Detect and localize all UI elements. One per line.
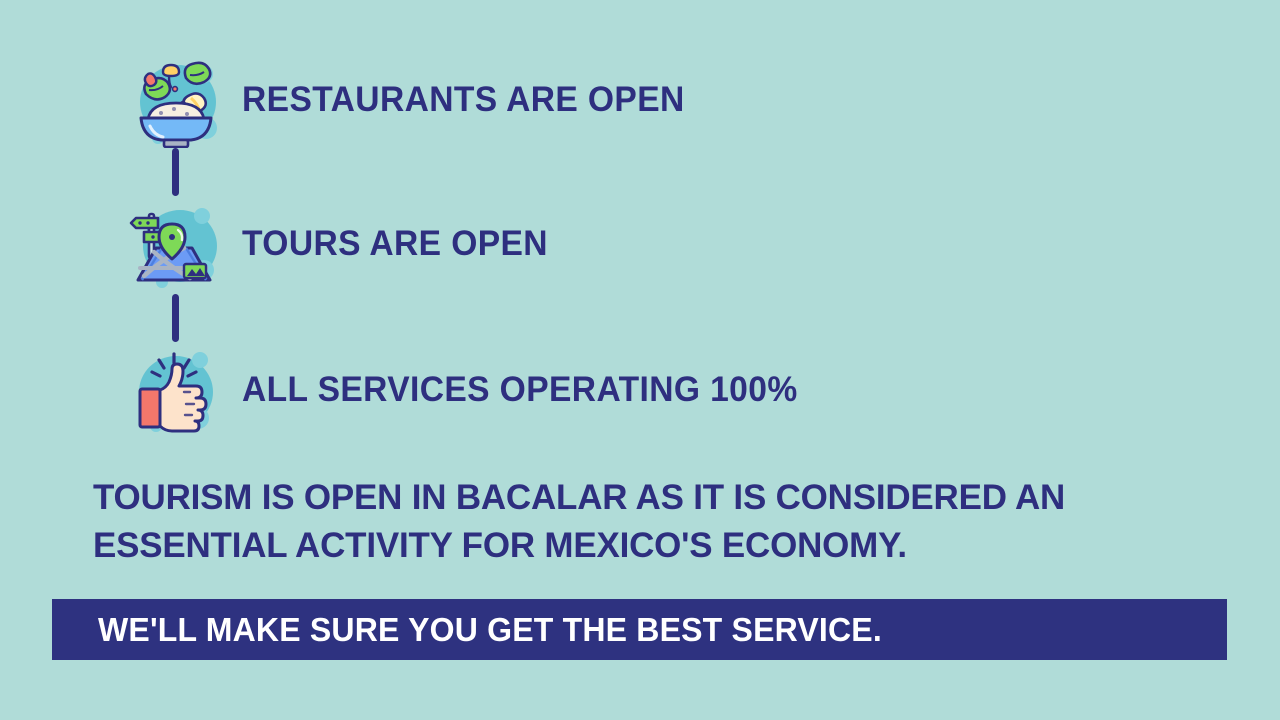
feature-item-services: ALL SERVICES OPERATING 100% [128, 342, 821, 438]
map-signpost-icon [128, 196, 224, 292]
connector-dash-1 [172, 148, 179, 196]
slide-canvas: RESTAURANTS ARE OPEN [0, 0, 1280, 720]
salad-bowl-icon [128, 52, 224, 148]
connector-dash-2 [172, 294, 179, 342]
paragraph-line-2: ESSENTIAL ACTIVITY FOR MEXICO'S ECONOMY. [93, 521, 1206, 569]
banner-text: WE'LL MAKE SURE YOU GET THE BEST SERVICE… [98, 611, 882, 649]
paragraph-line-1: TOURISM IS OPEN IN BACALAR AS IT IS CONS… [93, 473, 1206, 521]
feature-item-tours: TOURS ARE OPEN [128, 196, 561, 292]
bottom-banner: WE'LL MAKE SURE YOU GET THE BEST SERVICE… [52, 599, 1227, 660]
body-paragraph: TOURISM IS OPEN IN BACALAR AS IT IS CONS… [93, 473, 1206, 569]
thumbs-up-icon [128, 342, 224, 438]
feature-label-tours: TOURS ARE OPEN [242, 224, 548, 264]
feature-item-restaurants: RESTAURANTS ARE OPEN [128, 52, 703, 148]
feature-label-services: ALL SERVICES OPERATING 100% [242, 370, 798, 410]
feature-label-restaurants: RESTAURANTS ARE OPEN [242, 80, 685, 120]
